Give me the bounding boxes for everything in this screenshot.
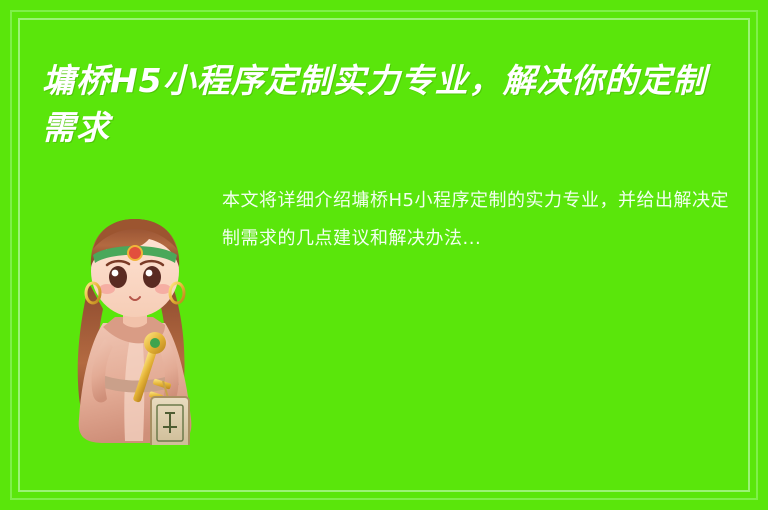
article-summary: 本文将详细介绍墉桥H5小程序定制的实力专业，并给出解决定制需求的几点建议和解决办… bbox=[222, 182, 734, 258]
chinese-girl-cartoon-illustration bbox=[45, 205, 235, 445]
poster-container: 墉桥H5小程序定制实力专业，解决你的定制需求 本文将详细介绍墉桥H5小程序定制的… bbox=[0, 0, 768, 510]
page-title: 墉桥H5小程序定制实力专业，解决你的定制需求 bbox=[42, 58, 732, 152]
